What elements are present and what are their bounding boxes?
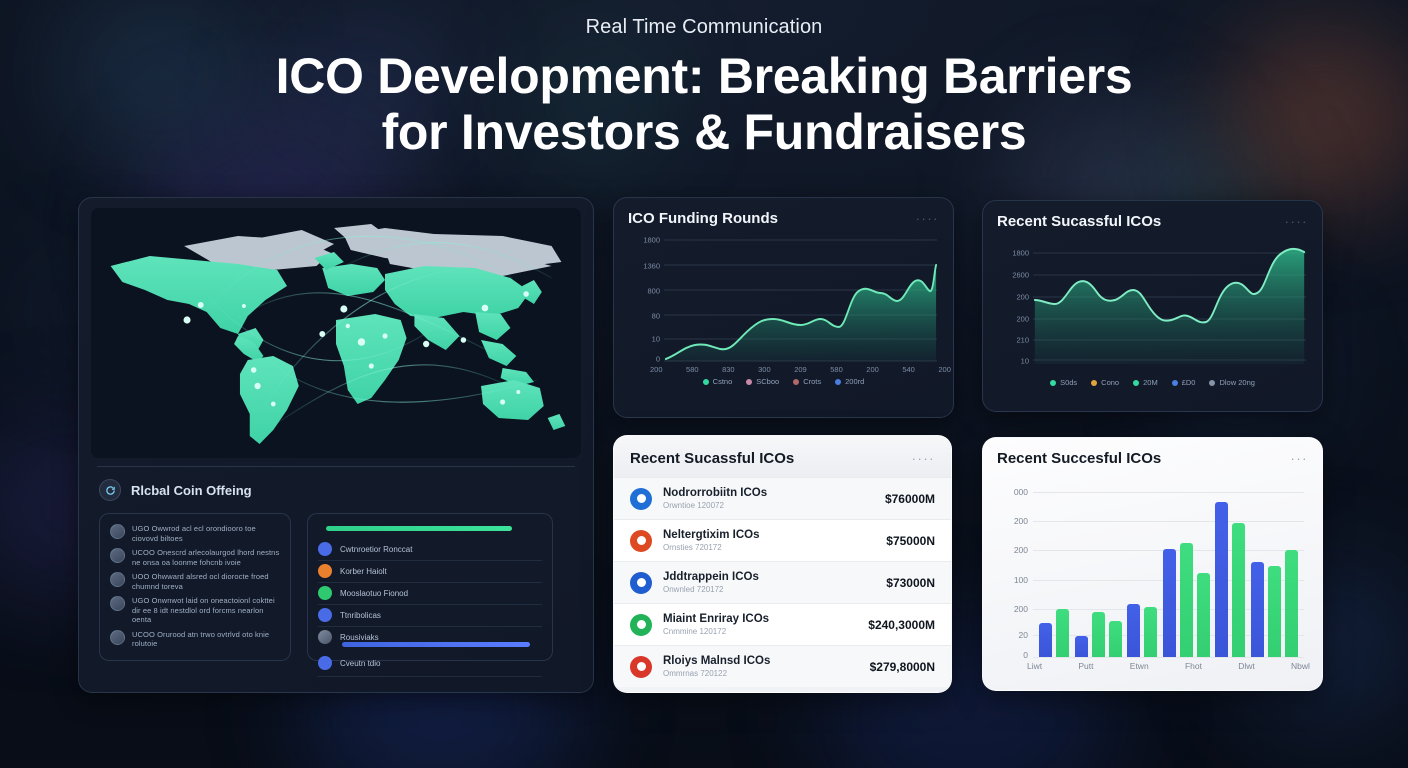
feed-text: UGO Owwrod acl ecl orondiooro toe ciovov… [132, 524, 280, 543]
y-axis: 1800 2600 200 200 210 10 [997, 238, 1031, 366]
card-title: Recent Sucassful ICOs [630, 450, 794, 467]
more-options-icon[interactable]: ···· [912, 451, 935, 466]
bar-green[interactable] [1285, 550, 1298, 657]
x-tick: 540 [902, 365, 915, 374]
x-tick: 200 [650, 365, 663, 374]
bar-green[interactable] [1109, 621, 1122, 657]
y-tick: 200 [1014, 545, 1028, 555]
y-tick: 2600 [1012, 271, 1029, 280]
legend-item[interactable]: 200rd [835, 377, 864, 386]
x-tick: 200 [938, 365, 951, 374]
map-label-row: Rlcbal Coin Offeing [99, 479, 577, 501]
x-tick: Etwn [1130, 661, 1149, 671]
y-tick: 200 [1014, 516, 1028, 526]
ico-subtitle: Orwntioe 120072 [663, 501, 767, 510]
bar-blue[interactable] [1163, 549, 1176, 657]
eyebrow-text: Real Time Communication [0, 16, 1408, 39]
list-item[interactable]: UGO Onwnwot laid on oneactoionl cokttei … [110, 596, 280, 625]
legend-swatch [835, 379, 841, 385]
table-row[interactable]: Jddtrappein ICOs Onwnled 720172 $73000N [614, 561, 951, 603]
bar-group[interactable] [1163, 485, 1210, 657]
list-item-label: Ttnribolicas [340, 611, 381, 620]
coin-icon [630, 572, 652, 594]
legend-item[interactable]: 20M [1133, 378, 1158, 387]
divider [97, 466, 575, 467]
bar-group[interactable] [1075, 485, 1122, 657]
ico-funding-rounds-card: ICO Funding Rounds ···· 1800 1360 800 80… [613, 197, 954, 418]
bar-green[interactable] [1144, 607, 1157, 657]
more-options-icon[interactable]: ···· [1285, 214, 1308, 229]
chart-legend: S0ds Cono 20M £D0 Dlow 20ng [997, 378, 1308, 387]
world-map-svg [91, 208, 581, 458]
chart-legend: Cstno SCboo Crots 200rd [628, 377, 939, 386]
x-tick: 830 [722, 365, 735, 374]
bar-groups [1033, 485, 1304, 657]
bar-green[interactable] [1232, 523, 1245, 657]
y-tick: 200 [1016, 314, 1029, 323]
status-dot [318, 656, 332, 670]
list-item-label: Korber Haiolt [340, 567, 387, 576]
bar-group[interactable] [1039, 485, 1069, 657]
x-tick: 580 [686, 365, 699, 374]
legend-swatch [1091, 380, 1097, 386]
metrics-list-card: Cwtnroetior Ronccat Korber Haiolt Moosla… [307, 513, 553, 661]
y-tick: 1360 [643, 261, 660, 270]
progress-bar-green [326, 526, 512, 531]
y-tick: 0 [656, 355, 660, 364]
x-tick: Nbwl [1291, 661, 1310, 671]
avatar [318, 630, 332, 644]
y-axis: 1800 1360 800 80 10 0 [628, 235, 662, 363]
bar-group[interactable] [1215, 485, 1245, 657]
card-title: Recent Succesful ICOs [997, 450, 1161, 467]
bar-blue[interactable] [1215, 502, 1228, 657]
bar-blue[interactable] [1251, 562, 1264, 657]
coin-icon [630, 488, 652, 510]
legend-label: SCboo [756, 377, 779, 386]
ico-subtitle: Onwnled 720172 [663, 585, 759, 594]
legend-swatch [793, 379, 799, 385]
recent-successful-icos-bar-card: Recent Succesful ICOs ··· 000 200 200 10… [982, 437, 1323, 691]
legend-swatch [746, 379, 752, 385]
ico-amount: $240,3000M [868, 618, 935, 632]
legend-item[interactable]: S0ds [1050, 378, 1077, 387]
bar-green[interactable] [1268, 566, 1281, 657]
table-row[interactable]: Miaint Enriray ICOs Cnmmine 120172 $240,… [614, 603, 951, 645]
ico-name: Miaint Enriray ICOs [663, 613, 769, 625]
card-header: Recent Sucassful ICOs ···· [614, 436, 951, 477]
bar-blue[interactable] [1039, 623, 1052, 657]
status-dot [318, 564, 332, 578]
x-tick: Putt [1078, 661, 1093, 671]
list-item-label: Cwtnroetior Ronccat [340, 545, 412, 554]
x-axis: Liwt Putt Etwn Fhot Dlwt Nbwl [1019, 661, 1318, 671]
recent-successful-icos-list-card: Recent Sucassful ICOs ···· Nodrorrobiitn… [613, 435, 952, 693]
ico-subtitle: Cnmmine 120172 [663, 627, 769, 636]
y-tick: 210 [1016, 336, 1029, 345]
legend-item[interactable]: Dlow 20ng [1209, 378, 1254, 387]
avatar [110, 524, 125, 539]
legend-label: Cono [1101, 378, 1119, 387]
y-tick: 000 [1014, 487, 1028, 497]
ico-amount: $279,8000N [870, 660, 935, 674]
plot-area [664, 235, 937, 363]
ico-name: Rloiys Malnsd ICOs [663, 655, 770, 667]
map-label-text: Rlcbal Coin Offeing [131, 483, 252, 498]
list-item[interactable]: UCOO Orurood atn trwo ovtrlvd oto knie r… [110, 630, 280, 649]
world-map[interactable] [91, 208, 581, 458]
row-text: Miaint Enriray ICOs Cnmmine 120172 [663, 613, 769, 636]
y-tick: 200 [1014, 604, 1028, 614]
legend-item[interactable]: Cstno [703, 377, 733, 386]
page-title: ICO Development: Breaking Barriers for I… [0, 51, 1408, 157]
x-tick: Fhot [1185, 661, 1202, 671]
table-row[interactable]: Neltergtixim ICOs Ornsties 720172 $75000… [614, 519, 951, 561]
ico-amount: $73000N [886, 576, 935, 590]
y-tick: 1800 [643, 236, 660, 245]
list-item-label: Mooslaotuo Fionod [340, 589, 408, 598]
legend-swatch [1050, 380, 1056, 386]
legend-label: £D0 [1182, 378, 1196, 387]
bar-green[interactable] [1180, 543, 1193, 657]
list-item-label: Rousiviaks [340, 633, 379, 642]
y-tick: 1800 [1012, 249, 1029, 258]
map-subpanels: UGO Owwrod acl ecl orondiooro toe ciovov… [99, 513, 573, 661]
bar-group[interactable] [1127, 485, 1157, 657]
y-tick: 200 [1016, 292, 1029, 301]
bar-green[interactable] [1197, 573, 1210, 657]
y-tick: 100 [1014, 575, 1028, 585]
y-tick: 20 [1019, 630, 1028, 640]
list-item[interactable]: Cveutn tdio [318, 653, 542, 674]
row-text: Rloiys Malnsd ICOs Ommrnas 720122 [663, 655, 770, 678]
y-tick: 800 [647, 287, 660, 296]
list-item[interactable]: Cwtnroetior Ronccat [318, 539, 542, 561]
x-tick: 209 [794, 365, 807, 374]
legend-label: Cstno [713, 377, 733, 386]
legend-label: 200rd [845, 377, 864, 386]
ico-subtitle: Ommrnas 720122 [663, 669, 770, 678]
recent-successful-icos-area-card: Recent Sucassful ICOs ···· 1800 2600 200… [982, 200, 1323, 412]
card-header: Recent Succesful ICOs ··· [997, 450, 1308, 467]
y-tick: 80 [652, 311, 660, 320]
refresh-icon [99, 479, 121, 501]
bar-blue[interactable] [1127, 604, 1140, 657]
feed-text: UCOO Onescrd arlecolaurgod lhord nestns … [132, 548, 280, 567]
legend-swatch [1209, 380, 1215, 386]
card-title: Recent Sucassful ICOs [997, 213, 1161, 230]
bar-green[interactable] [1056, 609, 1069, 657]
status-dot [318, 586, 332, 600]
y-tick: 10 [652, 334, 660, 343]
ico-name: Jddtrappein ICOs [663, 571, 759, 583]
bar-chart[interactable]: 000 200 200 100 200 20 0 [997, 485, 1308, 657]
status-dot [318, 542, 332, 556]
row-text: Nodrorrobiitn ICOs Orwntioe 120072 [663, 487, 767, 510]
list-item[interactable]: UCOO Onescrd arlecolaurgod lhord nestns … [110, 548, 280, 567]
feed-text: UCOO Orurood atn trwo ovtrlvd oto knie r… [132, 630, 280, 649]
page-title-line2: for Investors & Fundraisers [0, 107, 1408, 157]
bar-blue[interactable] [1075, 636, 1088, 657]
x-axis: 200 580 830 300 209 580 200 540 200 [650, 365, 951, 374]
avatar [110, 572, 125, 587]
coin-icon [630, 614, 652, 636]
x-tick: 200 [866, 365, 879, 374]
row-text: Neltergtixim ICOs Ornsties 720172 [663, 529, 760, 552]
legend-item[interactable]: Crots [793, 377, 821, 386]
card-header: Recent Sucassful ICOs ···· [997, 213, 1308, 230]
x-tick: Liwt [1027, 661, 1042, 671]
ico-amount: $76000M [885, 492, 935, 506]
legend-swatch [703, 379, 709, 385]
table-row[interactable]: Nodrorrobiitn ICOs Orwntioe 120072 $7600… [614, 477, 951, 519]
legend-label: Crots [803, 377, 821, 386]
plot-area [1033, 238, 1306, 366]
feed-text: UOO Ohwward alsred ocl diorocte froed ch… [132, 572, 280, 591]
more-options-icon[interactable]: ···· [916, 211, 939, 226]
recent-area-chart[interactable]: 1800 2600 200 200 210 10 [997, 238, 1308, 366]
list-item[interactable]: Korber Haiolt [318, 561, 542, 583]
avatar [110, 596, 125, 611]
avatar [110, 630, 125, 645]
table-row[interactable]: Rloiys Malnsd ICOs Ommrnas 720122 $279,8… [614, 645, 951, 687]
y-tick: 0 [1023, 650, 1028, 660]
card-title: ICO Funding Rounds [628, 210, 778, 227]
page-title-line1: ICO Development: Breaking Barriers [276, 48, 1133, 104]
activity-feed-card: UGO Owwrod acl ecl orondiooro toe ciovov… [99, 513, 291, 661]
legend-item[interactable]: £D0 [1172, 378, 1196, 387]
page-header: Real Time Communication ICO Development:… [0, 0, 1408, 157]
list-item[interactable]: UGO Owwrod acl ecl orondiooro toe ciovov… [110, 524, 280, 543]
list-item-label: Cveutn tdio [340, 659, 380, 668]
legend-label: Dlow 20ng [1219, 378, 1254, 387]
legend-item[interactable]: Cono [1091, 378, 1119, 387]
legend-label: 20M [1143, 378, 1158, 387]
global-map-panel: Rlcbal Coin Offeing UGO Owwrod acl ecl o… [78, 197, 594, 693]
row-text: Jddtrappein ICOs Onwnled 720172 [663, 571, 759, 594]
feed-text: UGO Onwnwot laid on oneactoionl cokttei … [132, 596, 280, 625]
bar-green[interactable] [1092, 612, 1105, 657]
y-axis: 000 200 200 100 200 20 0 [997, 485, 1031, 657]
y-tick: 10 [1021, 356, 1029, 365]
coin-icon [630, 530, 652, 552]
funding-area-chart[interactable]: 1800 1360 800 80 10 0 [628, 235, 939, 363]
ico-subtitle: Ornsties 720172 [663, 543, 760, 552]
more-options-icon[interactable]: ··· [1291, 451, 1309, 466]
list-item[interactable]: Mooslaotuo Fionod [318, 583, 542, 605]
ico-amount: $75000N [886, 534, 935, 548]
list-item[interactable]: Ttnribolicas [318, 605, 542, 627]
status-dot [318, 608, 332, 622]
legend-swatch [1172, 380, 1178, 386]
legend-swatch [1133, 380, 1139, 386]
ico-name: Neltergtixim ICOs [663, 529, 760, 541]
coin-icon [630, 656, 652, 678]
x-tick: 300 [758, 365, 771, 374]
card-header: ICO Funding Rounds ···· [628, 210, 939, 227]
list-item[interactable]: UOO Ohwward alsred ocl diorocte froed ch… [110, 572, 280, 591]
x-tick: Dlwt [1238, 661, 1255, 671]
progress-bar-blue [342, 642, 530, 647]
legend-item[interactable]: SCboo [746, 377, 779, 386]
divider [318, 676, 542, 677]
plot-area [1033, 485, 1304, 657]
ico-name: Nodrorrobiitn ICOs [663, 487, 767, 499]
x-tick: 580 [830, 365, 843, 374]
bar-group[interactable] [1251, 485, 1298, 657]
legend-label: S0ds [1060, 378, 1077, 387]
avatar [110, 548, 125, 563]
